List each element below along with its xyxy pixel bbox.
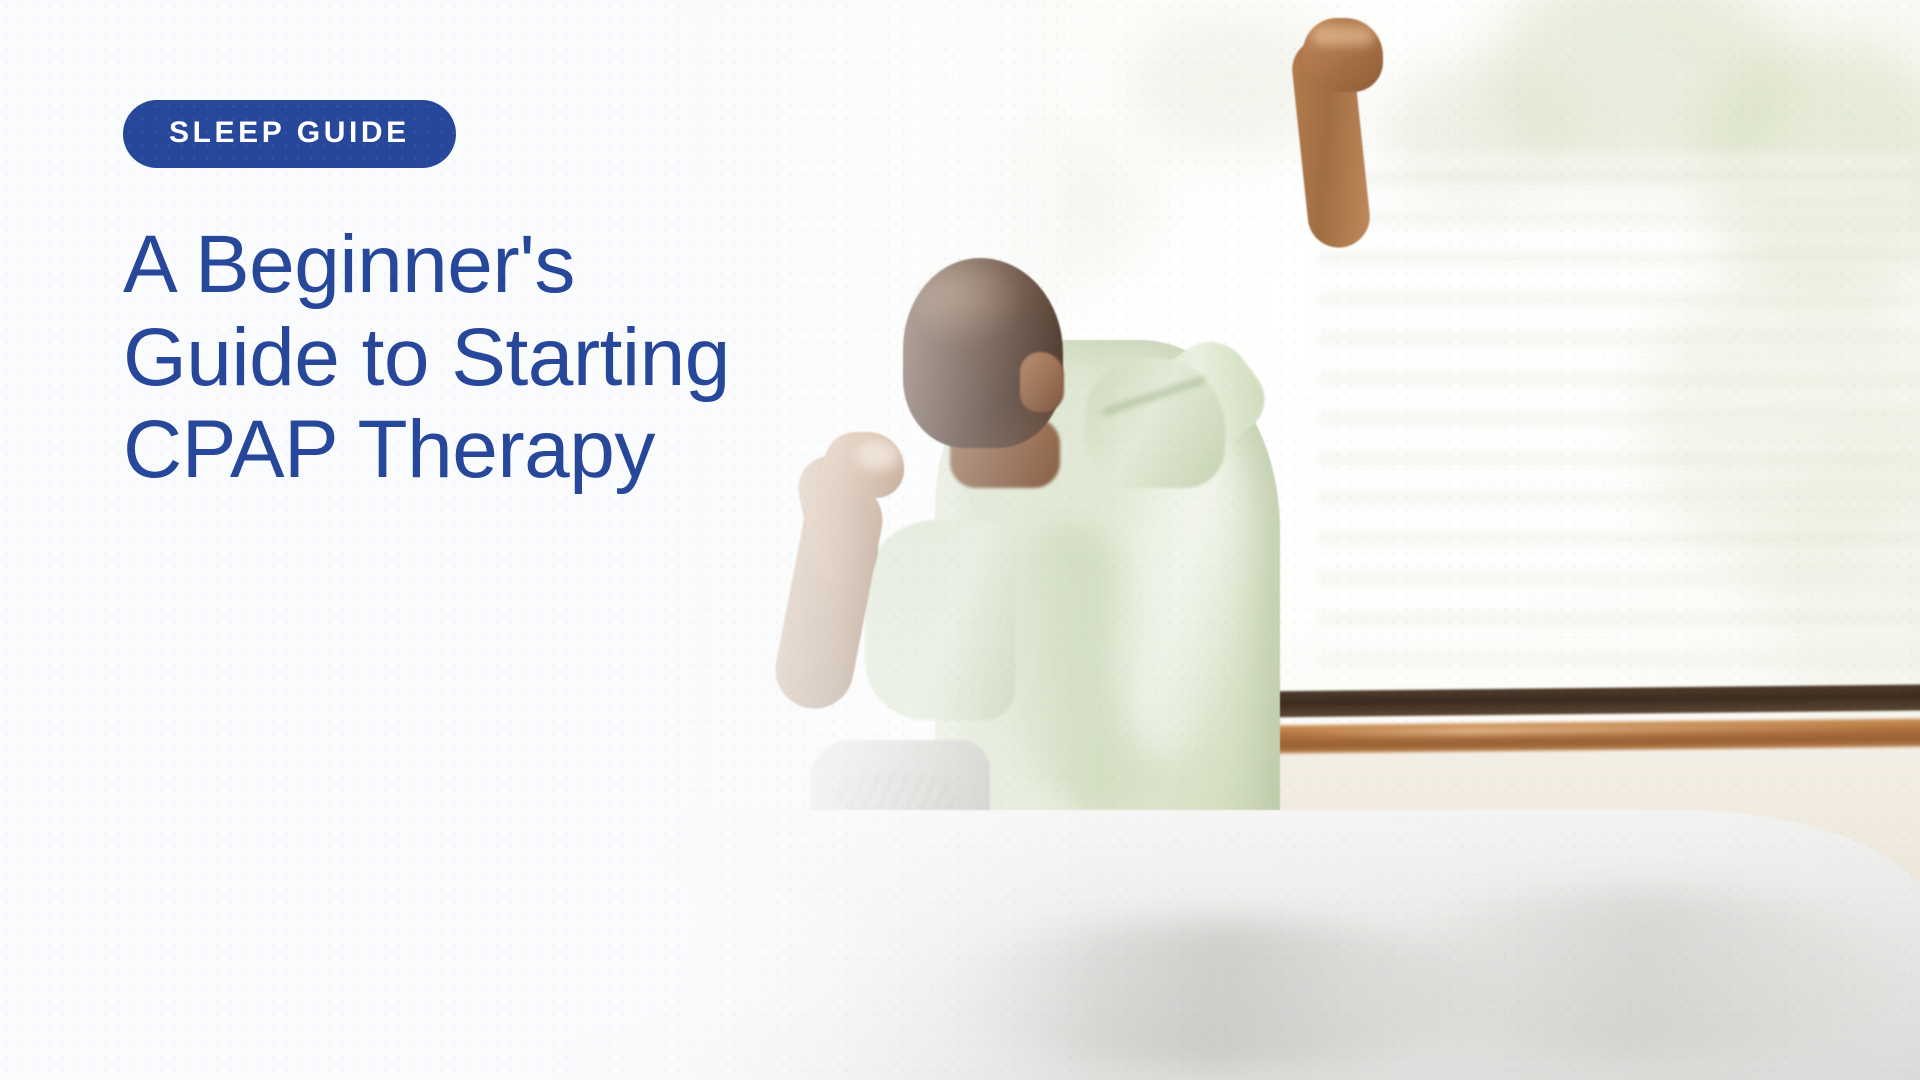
right-fist-highlight — [1312, 26, 1374, 46]
hero-content: SLEEP GUIDE A Beginner's Guide to Starti… — [123, 100, 943, 552]
hero-banner: SLEEP GUIDE A Beginner's Guide to Starti… — [0, 0, 1920, 1080]
category-badge-label: SLEEP GUIDE — [169, 116, 410, 149]
headline-line-2: Guide to Starting — [123, 312, 943, 405]
duvet-fold — [1380, 890, 1900, 1060]
page-title: A Beginner's Guide to Starting CPAP Ther… — [123, 219, 943, 497]
headline-line-1: A Beginner's — [123, 219, 943, 312]
category-badge[interactable]: SLEEP GUIDE — [123, 100, 456, 168]
headline-line-3: CPAP Therapy — [123, 404, 943, 497]
